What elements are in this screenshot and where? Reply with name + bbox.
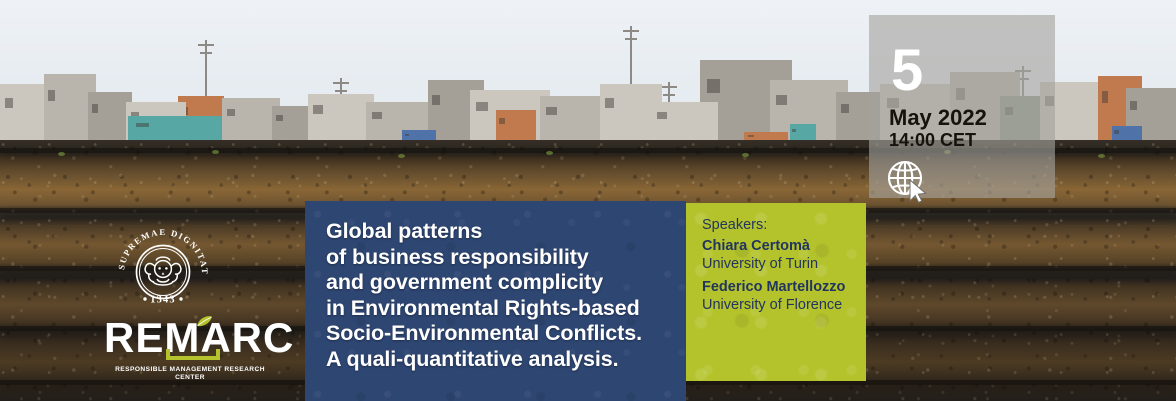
event-title: Global patterns of business responsibili…	[326, 219, 676, 372]
speaker-2-name: Federico Martellozzo	[702, 279, 845, 296]
leaf-icon	[196, 314, 213, 325]
speaker-2-affiliation: University of Florence	[702, 297, 842, 314]
title-line-1: Global patterns	[326, 219, 676, 245]
remarc-underline-mark	[166, 356, 220, 360]
title-line-5: Socio-Environmental Conflicts.	[326, 321, 676, 347]
event-time: 14:00 CET	[889, 130, 976, 150]
event-month-year: May 2022	[889, 106, 987, 130]
speakers-label: Speakers:	[702, 217, 767, 234]
remarc-tagline: RESPONSIBLE MANAGEMENT RESEARCH CENTER	[104, 366, 276, 382]
event-day: 5	[891, 42, 922, 100]
seal-year: 1343	[150, 295, 176, 306]
title-panel: Global patterns of business responsibili…	[305, 201, 686, 401]
event-banner: 5 May 2022 14:00 CET Global patterns of …	[0, 0, 1176, 401]
remarc-logo: REMARC RESPONSIBLE MANAGEMENT RESEARCH C…	[104, 316, 276, 378]
university-of-pisa-seal-icon: IN SUPREMAE DIGNITATIS 1343	[113, 222, 213, 322]
title-line-6: A quali-quantitative analysis.	[326, 347, 676, 373]
title-line-4: in Environmental Rights-based	[326, 296, 676, 322]
speaker-1-name: Chiara Certomà	[702, 238, 810, 255]
title-line-3: and government complicity	[326, 270, 676, 296]
speaker-1-affiliation: University of Turin	[702, 256, 818, 273]
title-line-2: of business responsibility	[326, 245, 676, 271]
event-date-badge: 5 May 2022 14:00 CET	[869, 15, 1055, 198]
remarc-wordmark: REMARC	[104, 316, 276, 360]
globe-cursor-icon	[885, 158, 933, 204]
speakers-panel: Speakers: Chiara Certomà University of T…	[686, 203, 866, 381]
